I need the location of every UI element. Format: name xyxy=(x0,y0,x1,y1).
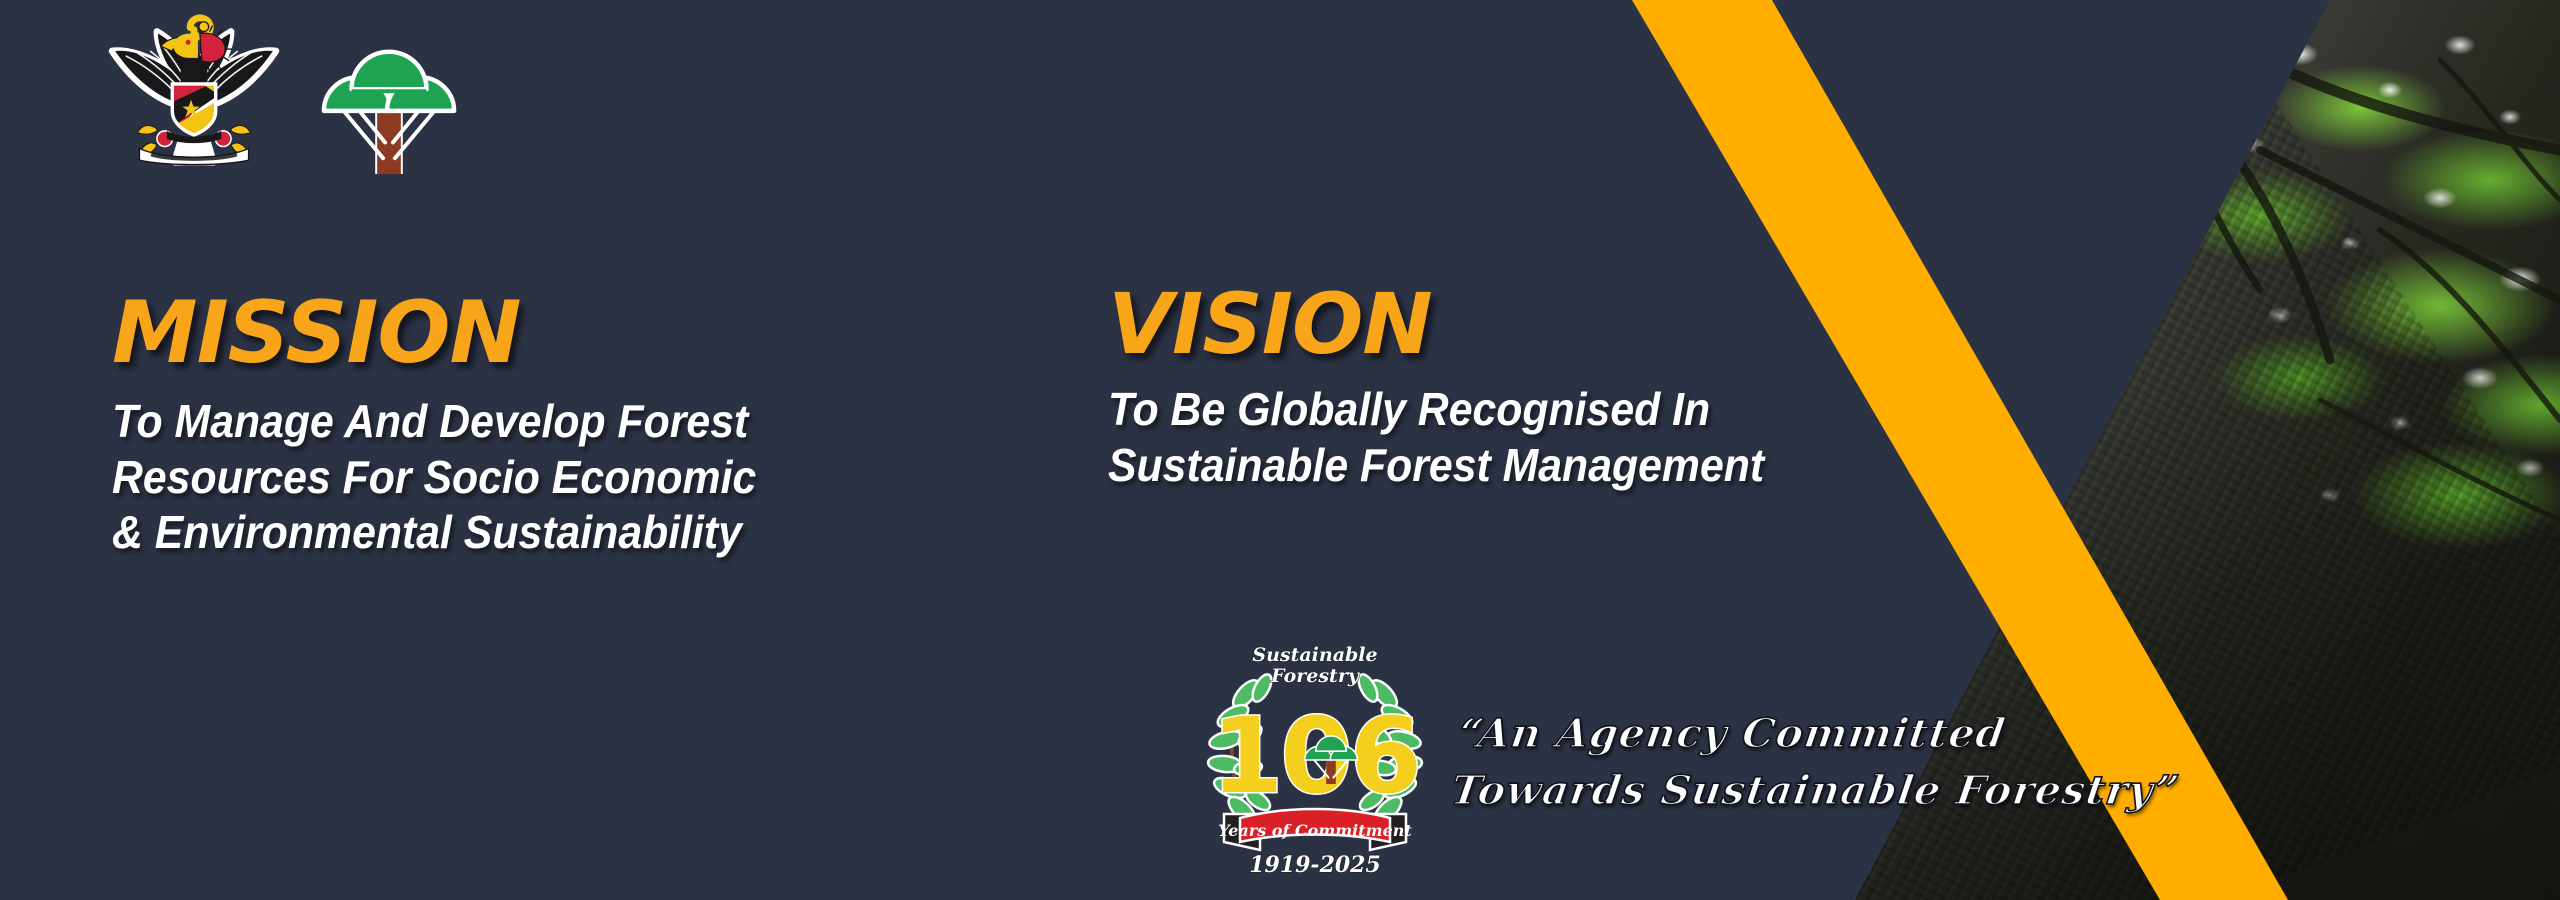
tagline-line-2: Towards Sustainable Forestry” xyxy=(1447,763,2183,820)
mission-column: MISSION To Manage And Develop Forest Res… xyxy=(112,290,992,561)
agency-tagline: “An Agency Committed Towards Sustainable… xyxy=(1447,696,2192,820)
mission-line-3: & Environmental Sustainability xyxy=(112,505,930,561)
anniversary-106-logo: Sustainable Forestry 106 xyxy=(1200,636,1430,880)
sarawak-state-crest xyxy=(96,14,292,166)
anniversary-row: Sustainable Forestry 106 xyxy=(1200,636,2170,880)
vision-line-2: Sustainable Forest Management xyxy=(1108,438,1992,494)
anniversary-ribbon-text: Years of Commitment xyxy=(1218,821,1412,840)
forest-department-tree-logo xyxy=(310,32,468,174)
mission-line-2: Resources For Socio Economic xyxy=(112,450,930,506)
vision-heading: VISION xyxy=(1108,282,2058,366)
tagline-line-1: “An Agency Committed xyxy=(1455,706,2191,763)
logo-row xyxy=(96,14,468,174)
mission-vision-banner: MISSION To Manage And Develop Forest Res… xyxy=(0,0,2560,900)
vision-column: VISION To Be Globally Recognised In Sust… xyxy=(1108,282,2058,493)
anniversary-top-script: Sustainable Forestry xyxy=(1252,644,1377,687)
anniversary-ribbon: Years of Commitment xyxy=(1218,809,1412,850)
mission-line-1: To Manage And Develop Forest xyxy=(112,394,930,450)
anniversary-top-line2: Forestry xyxy=(1270,665,1361,687)
anniversary-top-line1: Sustainable xyxy=(1252,644,1377,666)
anniversary-years: 1919-2025 xyxy=(1249,852,1381,878)
mission-heading: MISSION xyxy=(112,290,992,376)
vision-line-1: To Be Globally Recognised In xyxy=(1108,382,1992,438)
